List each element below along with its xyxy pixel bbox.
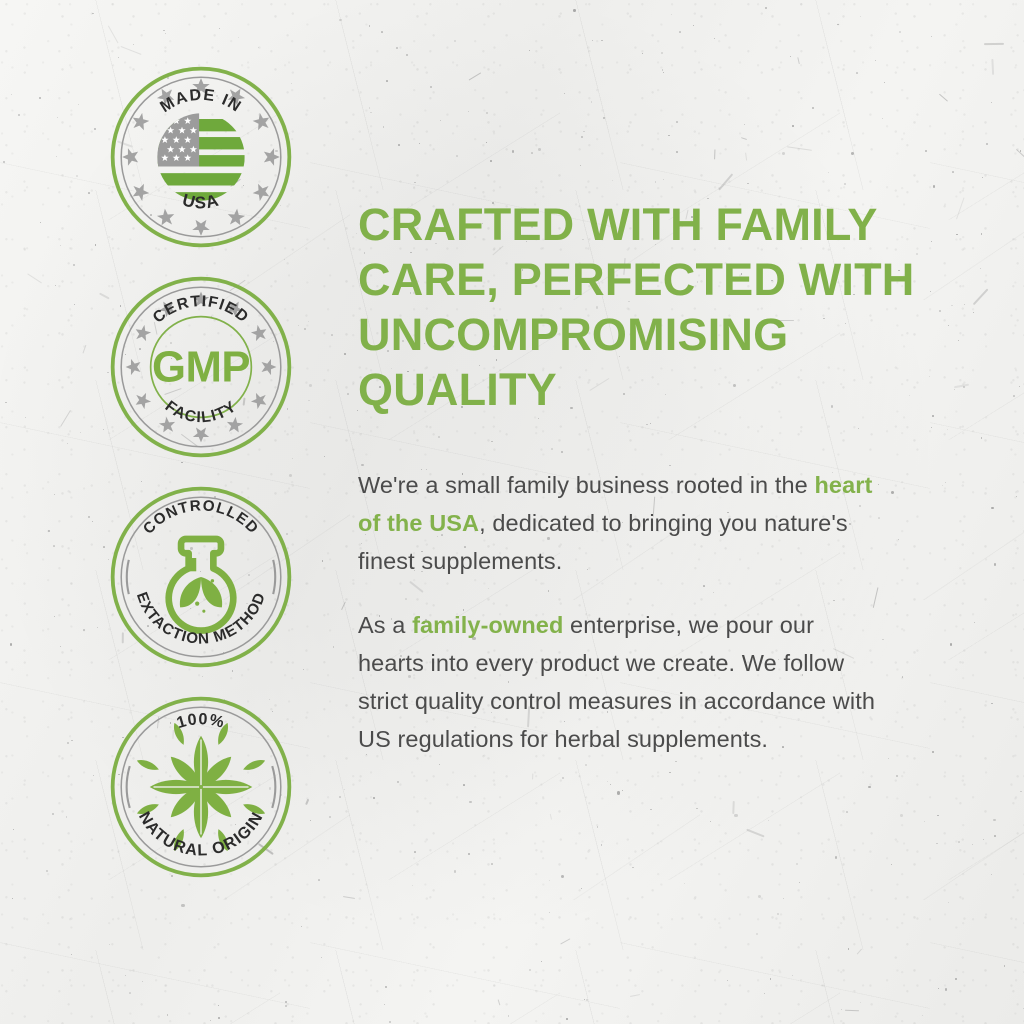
right-arc-decoration bbox=[272, 766, 275, 808]
left-arc-decoration bbox=[127, 560, 129, 594]
svg-text:USA: USA bbox=[180, 190, 221, 212]
usa-flag-circle-icon bbox=[144, 111, 258, 203]
badge-top-label: MADE IN bbox=[157, 86, 245, 116]
paragraph-2-text-part-1: As a bbox=[358, 612, 412, 638]
paragraph-2-highlight: family-owned bbox=[412, 612, 563, 638]
svg-text:CONTROLLED: CONTROLLED bbox=[140, 497, 262, 537]
flask-leaf-icon bbox=[169, 539, 234, 631]
badge-bottom-label: USA bbox=[180, 190, 221, 212]
svg-text:MADE IN: MADE IN bbox=[157, 86, 245, 116]
text-content: CRAFTED WITH FAMILY CARE, PERFECTED WITH… bbox=[358, 198, 934, 758]
paragraph-1-text-part-1: We're a small family business rooted in … bbox=[358, 472, 814, 498]
paragraph-1: We're a small family business rooted in … bbox=[358, 466, 878, 580]
badge-top-label: CERTIFIED bbox=[150, 293, 252, 327]
svg-text:EXTACTION METHOD: EXTACTION METHOD bbox=[133, 590, 269, 648]
left-arc-decoration bbox=[127, 766, 130, 808]
badge-bottom-label: EXTACTION METHOD bbox=[133, 590, 269, 648]
badge-controlled-extraction: CONTROLLED EXTACTION METHOD bbox=[106, 482, 296, 672]
badge-top-label: 100% bbox=[175, 710, 227, 732]
svg-text:100%: 100% bbox=[175, 710, 227, 732]
body-copy: We're a small family business rooted in … bbox=[358, 466, 878, 758]
paragraph-2: As a family-owned enterprise, we pour ou… bbox=[358, 606, 878, 758]
badge-top-label: CONTROLLED bbox=[140, 497, 262, 537]
badge-made-in-usa: MADE IN USA bbox=[106, 62, 296, 252]
page-headline: CRAFTED WITH FAMILY CARE, PERFECTED WITH… bbox=[358, 198, 934, 418]
certification-badge-column: MADE IN USA bbox=[96, 62, 306, 882]
right-arc-decoration bbox=[273, 560, 275, 594]
promo-panel: MADE IN USA bbox=[0, 0, 1024, 1024]
badge-gmp-certified: GMP CERTIFIED FACILITY bbox=[106, 272, 296, 462]
svg-text:CERTIFIED: CERTIFIED bbox=[150, 293, 252, 327]
gmp-center-label: GMP bbox=[152, 342, 250, 391]
badge-natural-origin: 100% NATURAL ORIGIN bbox=[106, 692, 296, 882]
